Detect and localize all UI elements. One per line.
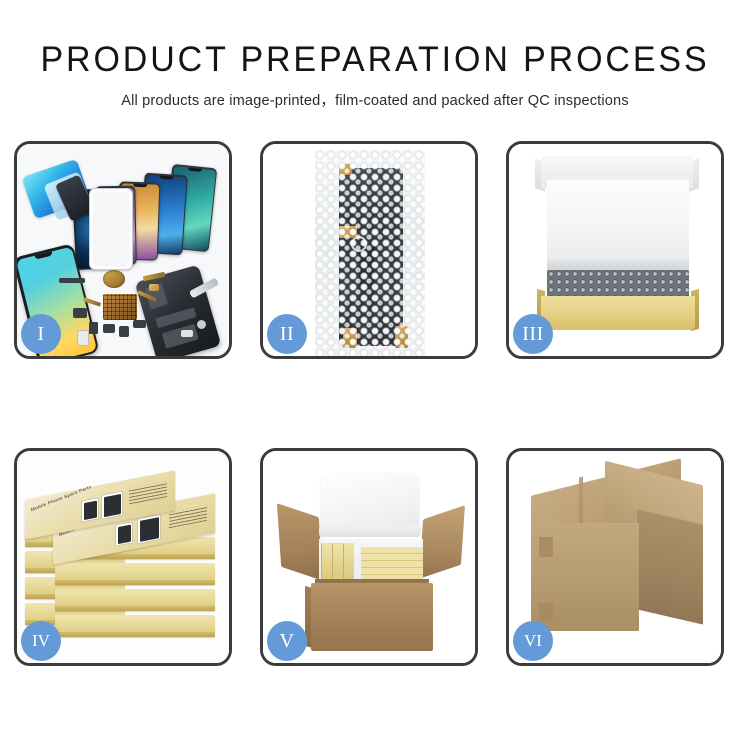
process-step-panel-3[interactable]: III — [506, 141, 724, 359]
page-subtitle: All products are image-printed，film-coat… — [0, 89, 750, 110]
box-artwork-phone-3 — [115, 521, 133, 546]
small-part-3 — [89, 322, 98, 334]
carton-front — [311, 583, 433, 651]
packed-box-3 — [343, 543, 354, 579]
bubble-wrap-contents — [547, 270, 689, 298]
stacked-box-r4 — [55, 615, 215, 637]
bubble-wrap-bag — [315, 150, 425, 356]
box-artwork-phone-2 — [101, 491, 123, 520]
process-step-panel-4[interactable]: Mobile Phone Spare Parts Mobile Phone Sp… — [14, 448, 232, 666]
process-step-panel-5[interactable]: V — [260, 448, 478, 666]
header: PRODUCT PREPARATION PROCESS All products… — [0, 0, 750, 110]
small-part-2 — [73, 308, 87, 318]
small-part-7 — [77, 330, 89, 346]
stacked-box-r3 — [55, 589, 215, 611]
step-badge-3: III — [513, 314, 553, 354]
carton-tape-bottom — [539, 603, 553, 621]
bubble-texture — [315, 150, 425, 356]
screen-protector-glass — [89, 188, 133, 270]
process-step-panel-1[interactable]: I — [14, 141, 232, 359]
step-badge-5: V — [267, 621, 307, 661]
process-step-panel-2[interactable]: II — [260, 141, 478, 359]
page-title: PRODUCT PREPARATION PROCESS — [11, 42, 739, 79]
kraft-box-front — [541, 296, 695, 330]
small-part-1 — [59, 278, 85, 283]
box-artwork-phone-1 — [81, 497, 99, 522]
small-part-8 — [181, 330, 193, 337]
speaker-part — [103, 270, 125, 288]
small-part-5 — [119, 326, 129, 337]
packed-box-2 — [332, 543, 343, 579]
infographic-page: PRODUCT PREPARATION PROCESS All products… — [0, 0, 750, 750]
shipping-carton-side — [637, 509, 703, 624]
step-badge-2: II — [267, 314, 307, 354]
foam-sheet — [547, 180, 689, 268]
process-step-grid: I II — [14, 141, 736, 666]
carton-top-seam — [579, 477, 583, 530]
box-stack: Mobile Phone Spare Parts Mobile Phone Sp… — [25, 475, 225, 651]
circuit-board-part — [103, 294, 137, 320]
step-badge-6: VI — [513, 621, 553, 661]
process-step-panel-6[interactable]: VI — [506, 448, 724, 666]
foam-lid-lip — [319, 525, 421, 537]
carton-tape-top — [539, 537, 553, 557]
box-spec-lines-1 — [129, 481, 167, 504]
step-badge-1: I — [21, 314, 61, 354]
small-part-6 — [133, 320, 146, 328]
gold-contact-1 — [149, 284, 159, 291]
step-badge-4: IV — [21, 621, 61, 661]
box-artwork-phone-4 — [137, 514, 161, 545]
small-part-4 — [103, 324, 115, 333]
packed-box-1 — [321, 543, 332, 579]
packed-box-layer — [361, 547, 423, 579]
small-part-9 — [197, 320, 206, 329]
stacked-box-r2 — [55, 563, 215, 585]
